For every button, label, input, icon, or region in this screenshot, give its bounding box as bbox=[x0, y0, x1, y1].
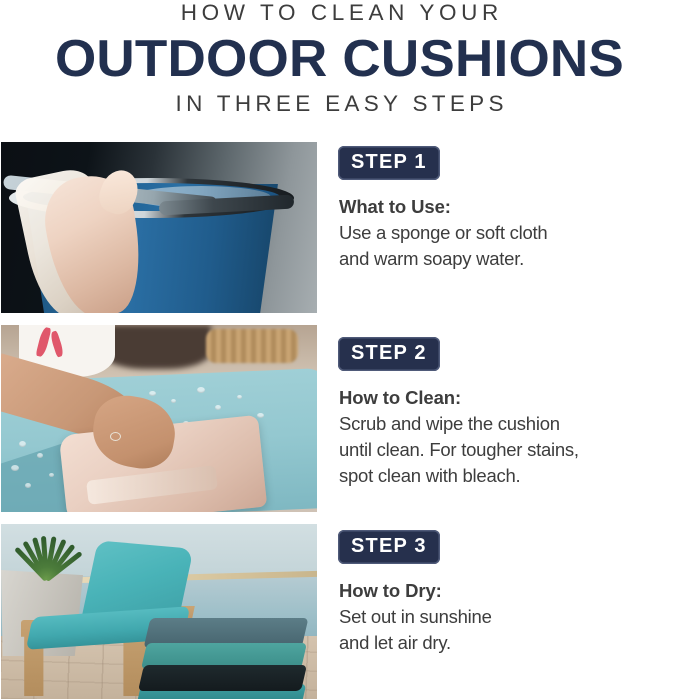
step-row-3: STEP 3 How to Dry: Set out in sunshine a… bbox=[0, 524, 679, 699]
step-2-badge-wrap: STEP 2 bbox=[338, 337, 440, 371]
header-line-3: IN THREE EASY STEPS bbox=[0, 90, 679, 118]
infographic-page: HOW TO CLEAN YOUR OUTDOOR CUSHIONS IN TH… bbox=[0, 0, 679, 699]
page-header: HOW TO CLEAN YOUR OUTDOOR CUSHIONS IN TH… bbox=[0, 0, 679, 130]
step-1-image bbox=[1, 142, 317, 313]
step-3-text: STEP 3 How to Dry: Set out in sunshine a… bbox=[338, 524, 679, 699]
status-badge: STEP 2 bbox=[338, 337, 440, 371]
step-1-body-block: What to Use: Use a sponge or soft cloth … bbox=[339, 194, 679, 272]
step-3-subheading: How to Dry: bbox=[339, 578, 679, 603]
step-2-description: Scrub and wipe the cushion until clean. … bbox=[339, 411, 679, 489]
step-2-body-block: How to Clean: Scrub and wipe the cushion… bbox=[339, 385, 679, 489]
step-1-subheading: What to Use: bbox=[339, 194, 679, 219]
step-2-image bbox=[1, 325, 317, 512]
page-title: OUTDOOR CUSHIONS bbox=[0, 28, 679, 90]
step-1-text: STEP 1 What to Use: Use a sponge or soft… bbox=[338, 142, 679, 313]
status-badge: STEP 3 bbox=[338, 530, 440, 564]
step-3-image bbox=[1, 524, 317, 699]
step-2-text: STEP 2 How to Clean: Scrub and wipe the … bbox=[338, 325, 679, 512]
step-2-subheading: How to Clean: bbox=[339, 385, 679, 410]
step-3-description: Set out in sunshine and let air dry. bbox=[339, 604, 679, 656]
step-1-badge-wrap: STEP 1 bbox=[338, 146, 440, 180]
status-badge: STEP 1 bbox=[338, 146, 440, 180]
step-row-2: STEP 2 How to Clean: Scrub and wipe the … bbox=[0, 325, 679, 512]
step-3-body-block: How to Dry: Set out in sunshine and let … bbox=[339, 578, 679, 656]
step-1-description: Use a sponge or soft cloth and warm soap… bbox=[339, 220, 679, 272]
header-line-1: HOW TO CLEAN YOUR bbox=[0, 0, 679, 27]
step-row-1: STEP 1 What to Use: Use a sponge or soft… bbox=[0, 142, 679, 313]
step-3-badge-wrap: STEP 3 bbox=[338, 530, 440, 564]
